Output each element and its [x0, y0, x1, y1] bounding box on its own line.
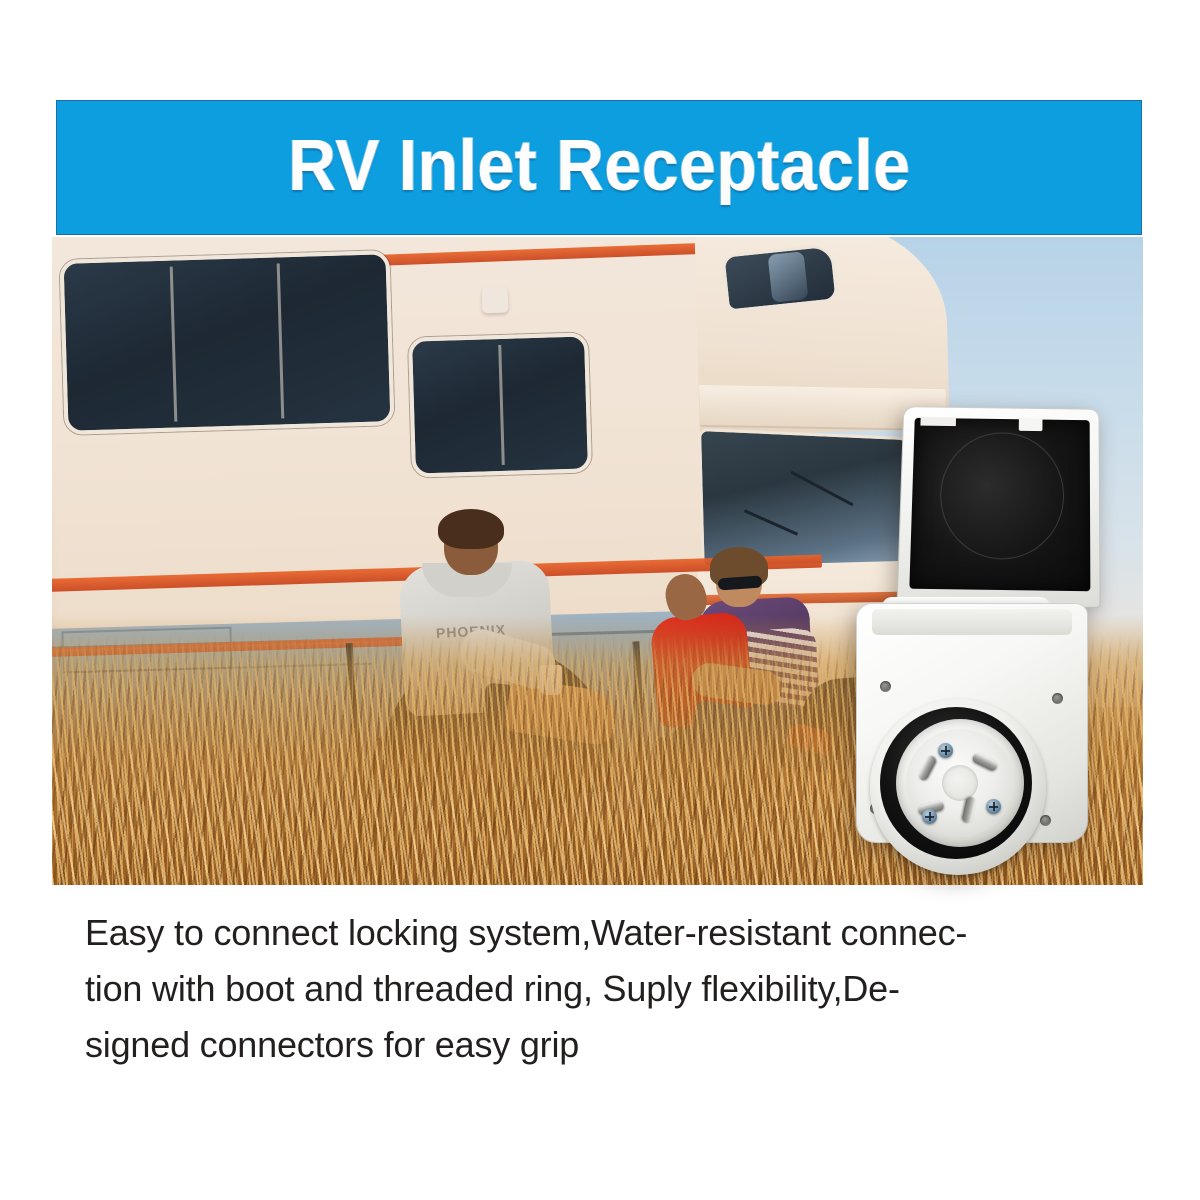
- title-banner: RV Inlet Receptacle: [56, 100, 1142, 235]
- mounting-hole: [1052, 693, 1063, 704]
- terminal-screw: [922, 809, 937, 824]
- lid-gasket: [909, 418, 1090, 591]
- mounting-hole: [880, 681, 891, 692]
- mounting-hole: [1040, 815, 1051, 826]
- bunk-window-glint: [768, 251, 809, 303]
- receptacle-hub: [942, 765, 978, 801]
- terminal-screw: [938, 743, 953, 758]
- window-divider: [498, 345, 505, 465]
- rv-vent: [482, 287, 509, 314]
- lid-notch-secondary: [920, 417, 956, 426]
- rv-window-large: [59, 250, 394, 435]
- caption-line-2: tion with boot and threaded ring, Suply …: [85, 961, 1145, 1017]
- page-title: RV Inlet Receptacle: [288, 130, 910, 206]
- receptacle-lid: [897, 406, 1101, 608]
- caption-line-3: signed connectors for easy grip: [85, 1017, 1145, 1073]
- terminal-screw: [986, 799, 1001, 814]
- faceplate-lip: [872, 609, 1072, 635]
- feature-caption: Easy to connect locking system,Water-res…: [85, 905, 1145, 1073]
- window-divider: [276, 263, 284, 418]
- rv-window-small: [408, 332, 592, 477]
- product-infographic-page: RV Inlet Receptacle: [0, 0, 1200, 1200]
- window-divider: [170, 267, 178, 422]
- lid-notch: [1019, 418, 1043, 431]
- caption-line-1: Easy to connect locking system,Water-res…: [85, 905, 1145, 961]
- person-man-hair: [438, 509, 504, 549]
- product-rv-inlet-receptacle: [844, 405, 1104, 843]
